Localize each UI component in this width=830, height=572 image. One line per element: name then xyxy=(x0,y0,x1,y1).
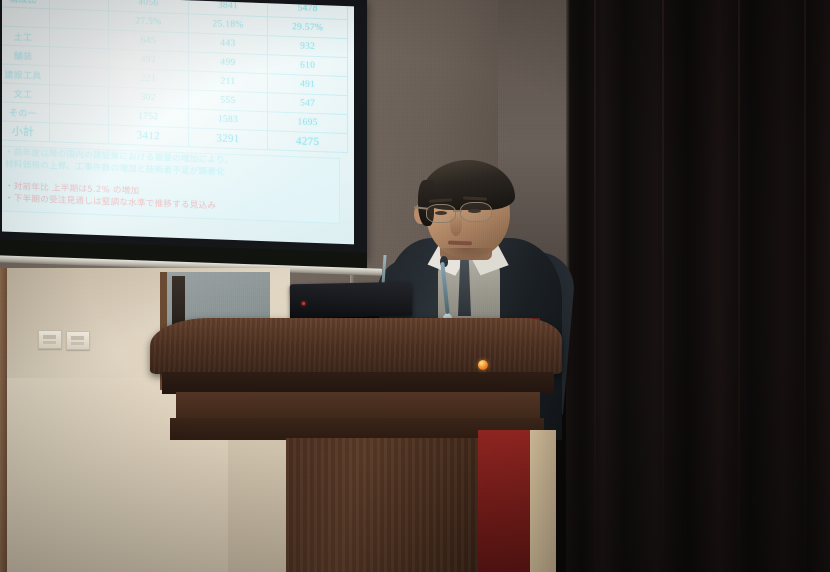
table-row-label: 文工 xyxy=(2,83,50,104)
stage-curtain xyxy=(566,0,830,572)
slide-content: 構成比40563841547827.5%25.18%29.57%土工645443… xyxy=(2,0,354,244)
laptop-lid[interactable] xyxy=(290,282,413,319)
table-row-label: 建設工具 xyxy=(2,64,50,85)
table-row-label: その一 xyxy=(2,102,50,123)
orange-badge-icon xyxy=(478,360,488,370)
slide-note-box: ・前年度以降の国内の建設業における需要の増加により、材料価格の上昇、工事件数の増… xyxy=(2,145,340,223)
light-switch-plate[interactable] xyxy=(38,330,62,349)
table-row-label: 小計 xyxy=(2,121,50,142)
light-switch-plate[interactable] xyxy=(66,331,90,350)
table-spacer-cell xyxy=(50,104,109,125)
glasses-lens-right xyxy=(460,202,492,222)
podium-mid-band xyxy=(176,392,540,420)
nose xyxy=(450,214,462,236)
table-cell: 3291 xyxy=(188,128,268,150)
table-row-label: 土工 xyxy=(2,26,50,47)
mouth xyxy=(448,241,472,246)
wall-trim xyxy=(0,268,7,572)
wood-grain xyxy=(150,318,562,374)
table-spacer-cell xyxy=(50,85,109,106)
presentation-photo: 構成比40563841547827.5%25.18%29.57%土工645443… xyxy=(0,0,830,572)
table-row-label xyxy=(2,7,50,28)
table-spacer-cell xyxy=(50,9,109,30)
table-cell: 3412 xyxy=(109,125,189,147)
table-spacer-cell xyxy=(50,123,109,144)
table-spacer-cell xyxy=(50,66,109,87)
podium-top xyxy=(150,318,562,374)
projection-screen-surface: 構成比40563841547827.5%25.18%29.57%土工645443… xyxy=(2,0,354,244)
power-led-icon xyxy=(302,302,305,305)
podium-lip xyxy=(162,372,554,394)
slide-data-table: 構成比40563841547827.5%25.18%29.57%土工645443… xyxy=(2,0,348,153)
table-cell: 4275 xyxy=(268,131,348,153)
podium-edge-highlight xyxy=(530,430,556,572)
table-row-label: 舗装 xyxy=(2,45,50,66)
table-spacer-cell xyxy=(50,28,109,49)
projection-screen: 構成比40563841547827.5%25.18%29.57%土工645443… xyxy=(0,0,367,261)
table-spacer-cell xyxy=(50,47,109,68)
slide-table-body: 構成比40563841547827.5%25.18%29.57%土工645443… xyxy=(2,0,348,153)
glasses-bridge xyxy=(453,210,462,212)
